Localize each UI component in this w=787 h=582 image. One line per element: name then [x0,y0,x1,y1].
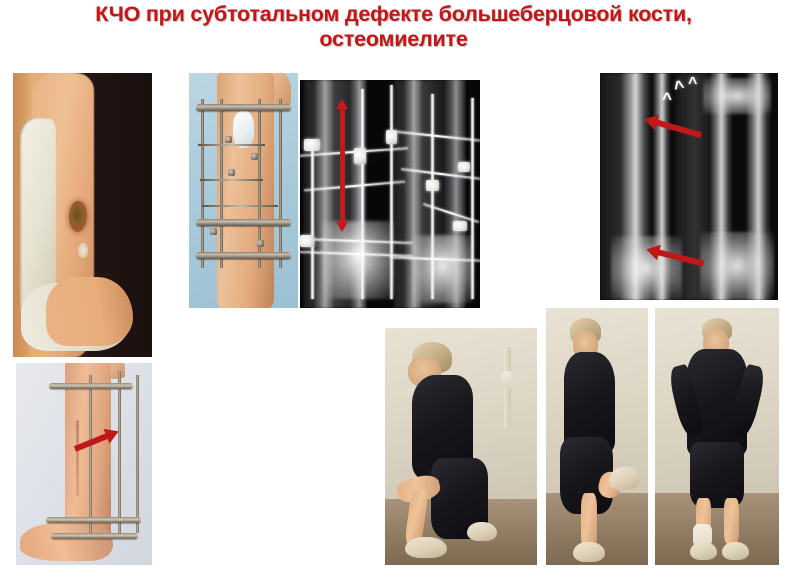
patient-shoe-left [405,537,448,558]
chevron-up-icon-3: ^ [662,90,672,107]
page-title: КЧО при субтотальном дефекте большеберцо… [0,2,787,52]
fixator-rod-c [136,375,139,533]
xray-clamp-2 [354,148,366,164]
fixator-rod-a [89,375,92,537]
patient-shin-right [724,498,739,544]
fixator-rod-mid1 [220,99,223,268]
xray-callus-right [412,235,473,303]
fixator-ring-top [196,104,292,111]
xray-distal-metaphysis-right [700,232,775,300]
panel-fixator-healed-photo [16,363,152,565]
wall-fixture [501,371,513,389]
patient-shoe-support [573,542,606,563]
panel-patient-stand-one-leg [546,308,648,565]
fixator-ring-foot [51,533,138,539]
fixator-nut-2 [228,169,235,176]
panel-fixator-clinical-photo [189,73,298,308]
fixator-rod-left [201,99,204,268]
fixator-rod-b [118,371,121,537]
fixator-pin-2 [200,179,263,181]
ulcer-wound [69,201,87,232]
patient-shoe-right-3 [722,542,749,560]
xray-clamp-5 [458,162,470,172]
xray-clamp-4 [426,180,439,191]
fixator-pin-3 [202,205,278,207]
fixator-ring-middle [196,219,292,226]
xray-clamp-7 [453,221,467,231]
fixator-ring-proximal [49,383,133,389]
patient-shoe-right [467,522,497,541]
foot-skin-2 [20,523,112,561]
fixator-rod-right [279,99,282,268]
xray-callus-left [322,221,394,299]
fixator-nut-5 [257,240,264,247]
panel-xray-with-fixator [300,80,480,308]
panel-patient-stand-front [655,308,779,565]
xray-clamp-1 [304,139,320,151]
fixator-ring-bottom [196,252,292,259]
fixator-nut-3 [251,153,258,160]
chevron-up-icon-2: ^ [688,76,697,92]
surgical-scar [76,420,79,497]
secondary-lesion [78,243,88,257]
panel-wound-photo [13,73,152,357]
xray-clamp-3 [386,130,397,144]
defect-length-arrow [340,108,345,223]
fixator-ring-distal [46,517,141,523]
panel-patient-squat [385,328,537,565]
fixator-pin-1 [198,144,266,146]
xray-proximal-metaphysis [703,78,771,114]
fixator-nut-4 [210,228,217,235]
patient-shoe-left-3 [690,542,717,560]
foot-skin [46,277,132,345]
panel-xray-tibia: ^ ^ ^ [600,73,778,300]
xray-rod-1 [311,144,314,299]
xray-clamp-6 [300,235,314,247]
fixator-nut-1 [225,136,232,143]
